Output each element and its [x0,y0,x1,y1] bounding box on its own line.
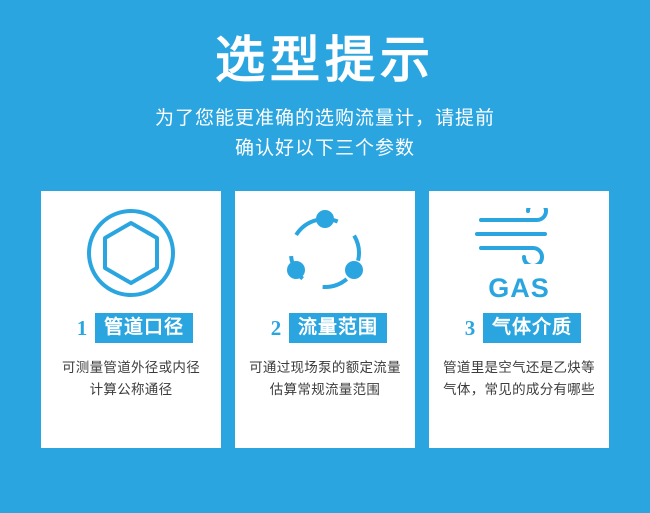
card-description: 可测量管道外径或内径 计算公称通径 [55,357,207,402]
card-label-row: 2 流量范围 [263,313,387,343]
cards-container: 1 管道口径 可测量管道外径或内径 计算公称通径 [0,191,650,448]
card-number: 2 [263,313,289,343]
card-icon-area [41,191,221,311]
page-title: 选型提示 [0,30,650,90]
card-icon-area [235,191,415,311]
gas-label: GAS [488,273,550,304]
card-number: 1 [69,313,95,343]
card-description: 可通过现场泵的额定流量 估算常规流量范围 [249,357,401,402]
card-label: 管道口径 [95,313,193,343]
card-label: 气体介质 [483,313,581,343]
card-label-row: 3 气体介质 [457,313,581,343]
page-subtitle: 为了您能更准确的选购流量计，请提前 确认好以下三个参数 [90,104,560,165]
card-gas-medium: GAS 3 气体介质 管道里是空气还是乙炔等 气体，常见的成分有哪些 [429,191,609,448]
card-desc-line-2: 计算公称通径 [55,379,207,401]
card-number: 3 [457,313,483,343]
subtitle-line-1: 为了您能更准确的选购流量计，请提前 [90,104,560,134]
card-description: 管道里是空气还是乙炔等 气体，常见的成分有哪些 [443,357,595,402]
flow-range-icon [279,207,371,304]
card-desc-line-2: 气体，常见的成分有哪些 [443,379,595,401]
card-label-row: 1 管道口径 [69,313,193,343]
card-pipe-diameter: 1 管道口径 可测量管道外径或内径 计算公称通径 [41,191,221,448]
promo-page: 选型提示 为了您能更准确的选购流量计，请提前 确认好以下三个参数 1 管道口径 [0,0,650,513]
gas-medium-icon [467,208,571,269]
card-label: 流量范围 [289,313,387,343]
card-desc-line-2: 估算常规流量范围 [249,379,401,401]
subtitle-line-2: 确认好以下三个参数 [90,134,560,164]
card-icon-area: GAS [429,191,609,311]
gas-icon-wrap: GAS [467,208,571,304]
card-desc-line-1: 可通过现场泵的额定流量 [249,357,401,379]
page-header: 选型提示 为了您能更准确的选购流量计，请提前 确认好以下三个参数 [0,0,650,165]
card-desc-line-1: 管道里是空气还是乙炔等 [443,357,595,379]
pipe-diameter-icon [85,207,177,304]
card-desc-line-1: 可测量管道外径或内径 [55,357,207,379]
card-flow-range: 2 流量范围 可通过现场泵的额定流量 估算常规流量范围 [235,191,415,448]
